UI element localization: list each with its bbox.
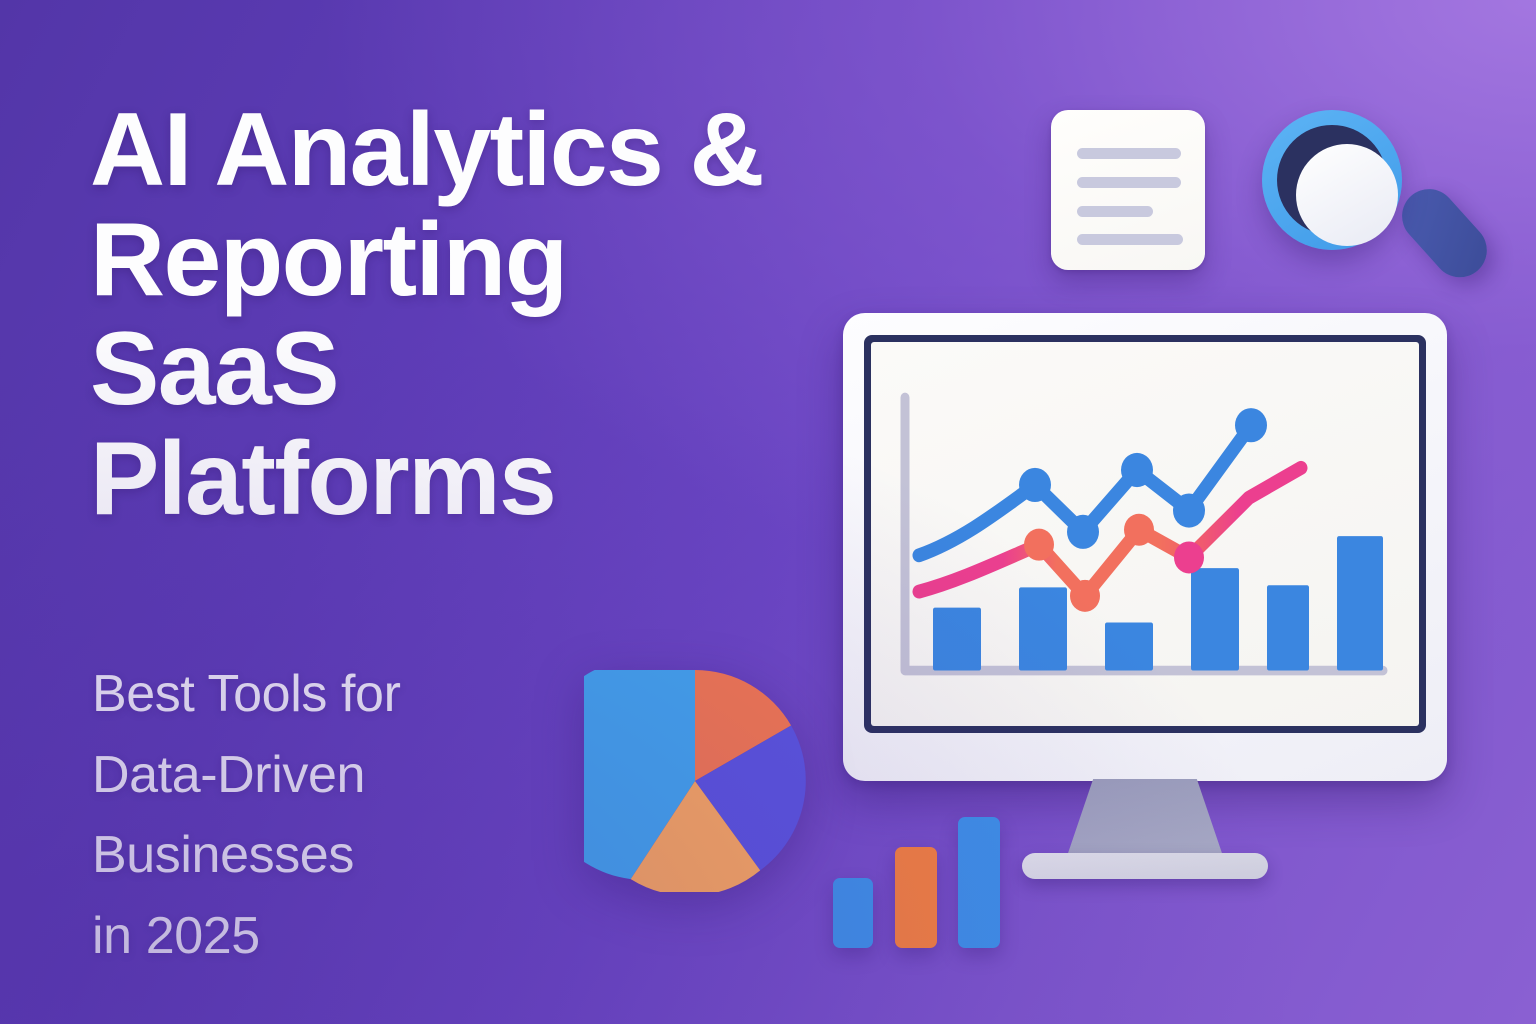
document-text-line bbox=[1077, 206, 1153, 217]
subtitle-line-2: Data-Driven bbox=[92, 735, 612, 816]
monitor-bezel bbox=[864, 335, 1426, 733]
subtitle-line-3: Businesses bbox=[92, 815, 612, 896]
headline-line-1: AI Analytics & bbox=[90, 96, 990, 206]
document-text-line bbox=[1077, 177, 1181, 188]
dashboard-chart bbox=[871, 342, 1419, 726]
chart-point bbox=[1174, 541, 1204, 573]
subtitle-line-4: in 2025 bbox=[92, 896, 612, 977]
poster-canvas: AI Analytics & Reporting SaaS Platforms … bbox=[0, 0, 1536, 1024]
magnifier-icon bbox=[1256, 104, 1476, 284]
chart-point bbox=[1173, 493, 1205, 527]
chart-bar bbox=[1191, 568, 1239, 670]
magnifier-ring bbox=[1262, 110, 1402, 250]
mini-bar bbox=[958, 817, 1000, 948]
chart-bar bbox=[1267, 585, 1309, 670]
chart-point bbox=[1070, 580, 1100, 612]
chart-bar bbox=[1337, 536, 1383, 670]
chart-point bbox=[1121, 453, 1153, 487]
document-text-line bbox=[1077, 148, 1181, 159]
magnifier-inner-ring bbox=[1277, 125, 1387, 235]
document-icon bbox=[1051, 110, 1205, 270]
magnifier-handle bbox=[1391, 178, 1498, 288]
magnifier-lens bbox=[1296, 144, 1398, 246]
monitor-icon bbox=[843, 313, 1447, 781]
chart-point bbox=[1124, 514, 1154, 546]
chart-point bbox=[1019, 468, 1051, 502]
chart-bar bbox=[1019, 587, 1067, 670]
monitor-screen bbox=[871, 342, 1419, 726]
monitor-base bbox=[1022, 853, 1268, 879]
chart-point bbox=[1067, 515, 1099, 549]
chart-line-secondary bbox=[919, 468, 1301, 612]
mini-bar-chart bbox=[833, 806, 1008, 948]
subtitle-line-1: Best Tools for bbox=[92, 654, 612, 735]
document-text-line bbox=[1077, 234, 1183, 245]
mini-bar bbox=[895, 847, 937, 948]
mini-bar bbox=[833, 878, 873, 948]
chart-bar bbox=[933, 608, 981, 671]
headline-line-2: Reporting bbox=[90, 206, 990, 316]
chart-bar bbox=[1105, 623, 1153, 671]
chart-point bbox=[1024, 529, 1054, 561]
chart-point bbox=[1235, 408, 1267, 442]
pie-chart bbox=[584, 670, 806, 892]
page-subtitle: Best Tools for Data-Driven Businesses in… bbox=[92, 654, 612, 976]
